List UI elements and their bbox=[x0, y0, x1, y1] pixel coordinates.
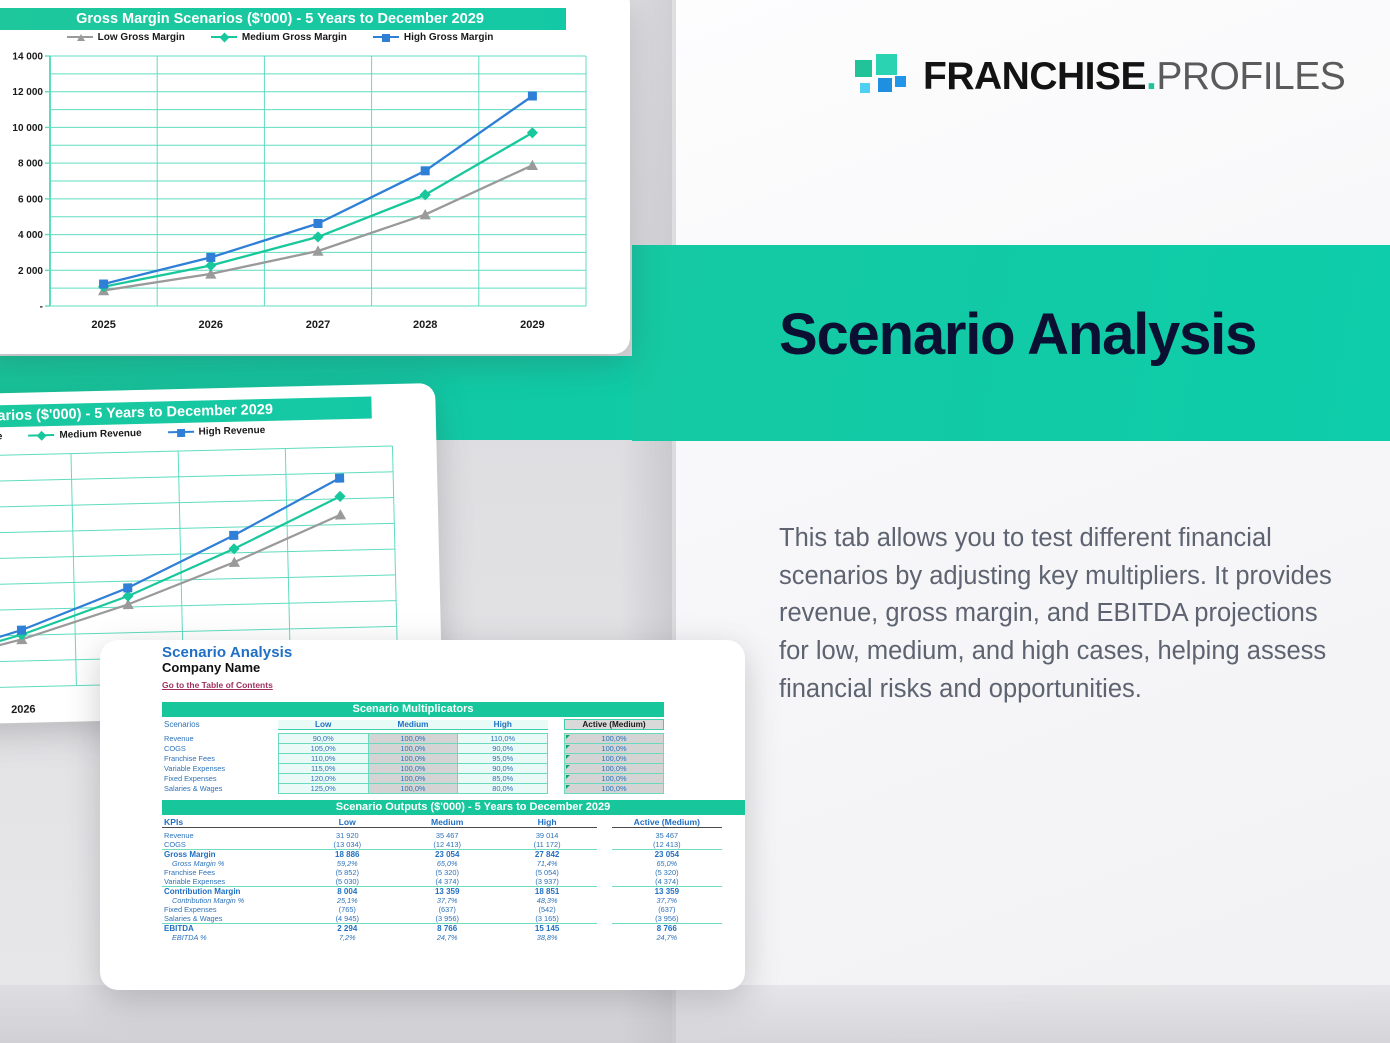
page-headline: Scenario Analysis bbox=[779, 305, 1379, 366]
legend-label: Medium Revenue bbox=[59, 427, 141, 440]
logo-wordmark: FRANCHISE.PROFILES bbox=[923, 57, 1345, 96]
logo-text-bold: FRANCHISE bbox=[923, 55, 1146, 98]
table-row: COGS105,0%100,0%90,0%100,0% bbox=[162, 744, 664, 754]
cell-high: (3 937) bbox=[497, 877, 597, 887]
table-row: Fixed Expenses(765)(637)(542)(637) bbox=[162, 905, 722, 914]
legend-line-blue bbox=[373, 36, 399, 38]
background-bottom-shade bbox=[0, 985, 1390, 1043]
cell-high: 71,4% bbox=[497, 859, 597, 868]
svg-text:-: - bbox=[40, 302, 43, 313]
cell-medium: (3 956) bbox=[397, 914, 497, 924]
cell-high: 38,8% bbox=[497, 933, 597, 942]
col-header-medium: Medium bbox=[368, 720, 458, 730]
gross-margin-chart-title: Gross Margin Scenarios ($'000) - 5 Years… bbox=[0, 8, 566, 30]
col-header-active: Active (Medium) bbox=[564, 720, 663, 730]
svg-text:2 000: 2 000 bbox=[18, 266, 43, 277]
cell-high: 39 014 bbox=[497, 831, 597, 840]
cell-high[interactable]: 90,0% bbox=[458, 764, 548, 774]
cell-active[interactable]: 100,0% bbox=[564, 774, 663, 784]
col-header-low: Low bbox=[278, 720, 368, 730]
cell-medium: 65,0% bbox=[397, 859, 497, 868]
svg-text:2028: 2028 bbox=[413, 319, 437, 331]
cell-active: 8 766 bbox=[612, 924, 722, 934]
franchise-profiles-logo: FRANCHISE.PROFILES bbox=[855, 48, 1355, 104]
cell-active: (5 320) bbox=[612, 868, 722, 877]
legend-item-low-gross-margin: Low Gross Margin bbox=[67, 32, 185, 43]
cell-low[interactable]: 105,0% bbox=[278, 744, 368, 754]
logo-mark-icon bbox=[855, 52, 907, 100]
row-label: Fixed Expenses bbox=[162, 774, 278, 784]
legend-line-green bbox=[211, 36, 237, 38]
col-header-medium: Medium bbox=[397, 817, 497, 828]
cell-active: (4 374) bbox=[612, 877, 722, 887]
svg-text:2027: 2027 bbox=[306, 319, 330, 331]
legend-item-low-revenue: Low Revenue bbox=[0, 431, 3, 444]
gross-margin-svg: 14 00012 00010 0008 0006 0004 0002 000-2… bbox=[0, 50, 592, 340]
cell-medium: 23 054 bbox=[397, 850, 497, 860]
svg-text:8 000: 8 000 bbox=[18, 159, 43, 170]
legend-label: Low Revenue bbox=[0, 431, 3, 444]
gross-margin-plot-area: 14 00012 00010 0008 0006 0004 0002 000-2… bbox=[0, 50, 592, 340]
svg-text:14 000: 14 000 bbox=[12, 52, 43, 63]
row-label: Revenue bbox=[162, 831, 297, 840]
legend-line-gray bbox=[67, 36, 93, 38]
scenario-outputs-band: Scenario Outputs ($'000) - 5 Years to De… bbox=[162, 800, 745, 815]
col-header-active: Active (Medium) bbox=[612, 817, 722, 828]
cell-medium[interactable]: 100,0% bbox=[368, 754, 458, 764]
row-label: Salaries & Wages bbox=[162, 914, 297, 924]
cell-medium[interactable]: 100,0% bbox=[368, 784, 458, 794]
cell-active[interactable]: 100,0% bbox=[564, 754, 663, 764]
row-label: Salaries & Wages bbox=[162, 784, 278, 794]
cell-low: 8 004 bbox=[297, 887, 397, 897]
table-row: Franchise Fees110,0%100,0%95,0%100,0% bbox=[162, 754, 664, 764]
table-row: Gross Margin %59,2%65,0%71,4%65,0% bbox=[162, 859, 722, 868]
col-header-scenarios: Scenarios bbox=[162, 720, 278, 730]
cell-low: 25,1% bbox=[297, 896, 397, 905]
cell-high[interactable]: 85,0% bbox=[458, 774, 548, 784]
cell-medium: 13 359 bbox=[397, 887, 497, 897]
cell-high: 48,3% bbox=[497, 896, 597, 905]
cell-active: 24,7% bbox=[612, 933, 722, 942]
cell-high[interactable]: 80,0% bbox=[458, 784, 548, 794]
triangle-marker-icon bbox=[77, 34, 85, 41]
gross-margin-chart-card: Gross Margin Scenarios ($'000) - 5 Years… bbox=[0, 0, 630, 354]
logo-text-dot: . bbox=[1146, 55, 1156, 98]
cell-active[interactable]: 100,0% bbox=[564, 744, 663, 754]
svg-text:4 000: 4 000 bbox=[18, 230, 43, 241]
cell-active[interactable]: 100,0% bbox=[564, 734, 663, 744]
svg-text:6 000: 6 000 bbox=[18, 194, 43, 205]
cell-high: 27 842 bbox=[497, 850, 597, 860]
cell-high: (3 165) bbox=[497, 914, 597, 924]
table-header-row: ScenariosLowMediumHighActive (Medium) bbox=[162, 720, 664, 730]
cell-low: 59,2% bbox=[297, 859, 397, 868]
row-label: Fixed Expenses bbox=[162, 905, 297, 914]
cell-low: (5 852) bbox=[297, 868, 397, 877]
cell-high[interactable]: 110,0% bbox=[458, 734, 548, 744]
page-description: This tab allows you to test different fi… bbox=[779, 520, 1334, 709]
cell-low: (765) bbox=[297, 905, 397, 914]
cell-medium[interactable]: 100,0% bbox=[368, 744, 458, 754]
row-label: Franchise Fees bbox=[162, 868, 297, 877]
svg-text:2026: 2026 bbox=[11, 704, 36, 717]
gross-margin-legend: Low Gross Margin Medium Gross Margin Hig… bbox=[0, 28, 566, 46]
cell-active[interactable]: 100,0% bbox=[564, 764, 663, 774]
col-header-high: High bbox=[458, 720, 548, 730]
row-label: COGS bbox=[162, 840, 297, 850]
col-header-low: Low bbox=[297, 817, 397, 828]
cell-low[interactable]: 125,0% bbox=[278, 784, 368, 794]
logo-text-light: PROFILES bbox=[1156, 55, 1345, 98]
cell-active: 65,0% bbox=[612, 859, 722, 868]
row-label: Contribution Margin bbox=[162, 887, 297, 897]
cell-medium[interactable]: 100,0% bbox=[368, 764, 458, 774]
table-row: Franchise Fees(5 852)(5 320)(5 054)(5 32… bbox=[162, 868, 722, 877]
cell-low[interactable]: 120,0% bbox=[278, 774, 368, 784]
cell-medium: (4 374) bbox=[397, 877, 497, 887]
cell-low: 18 886 bbox=[297, 850, 397, 860]
cell-medium: 8 766 bbox=[397, 924, 497, 934]
cell-low: 2 294 bbox=[297, 924, 397, 934]
table-header-row: KPIsLowMediumHighActive (Medium) bbox=[162, 817, 722, 828]
cell-high: 18 851 bbox=[497, 887, 597, 897]
col-header-kpis: KPIs bbox=[162, 817, 297, 828]
sheet-title: Scenario Analysis bbox=[162, 644, 745, 661]
cell-active: 23 054 bbox=[612, 850, 722, 860]
svg-text:2025: 2025 bbox=[91, 319, 115, 331]
cell-low: 7,2% bbox=[297, 933, 397, 942]
cell-medium: 24,7% bbox=[397, 933, 497, 942]
legend-item-medium-revenue: Medium Revenue bbox=[28, 427, 141, 441]
cell-medium: (12 413) bbox=[397, 840, 497, 850]
scenario-outputs-table: KPIsLowMediumHighActive (Medium)Revenue3… bbox=[162, 817, 722, 942]
row-label: Variable Expenses bbox=[162, 764, 278, 774]
cell-medium: 37,7% bbox=[397, 896, 497, 905]
table-row: EBITDA %7,2%24,7%38,8%24,7% bbox=[162, 933, 722, 942]
row-label: Contribution Margin % bbox=[162, 896, 297, 905]
col-header-high: High bbox=[497, 817, 597, 828]
square-marker-icon bbox=[177, 429, 185, 437]
row-label: Franchise Fees bbox=[162, 754, 278, 764]
cell-high: (5 054) bbox=[497, 868, 597, 877]
table-row: Revenue31 92035 46739 01435 467 bbox=[162, 831, 722, 840]
row-label: Gross Margin % bbox=[162, 859, 297, 868]
cell-active: (12 413) bbox=[612, 840, 722, 850]
legend-item-high-gross-margin: High Gross Margin bbox=[373, 32, 493, 43]
cell-low[interactable]: 115,0% bbox=[278, 764, 368, 774]
cell-active[interactable]: 100,0% bbox=[564, 784, 663, 794]
diamond-marker-icon bbox=[37, 431, 47, 441]
legend-line-blue bbox=[168, 431, 194, 434]
cell-low: 31 920 bbox=[297, 831, 397, 840]
row-label: Variable Expenses bbox=[162, 877, 297, 887]
legend-label: Low Gross Margin bbox=[98, 32, 185, 43]
cell-active: (3 956) bbox=[612, 914, 722, 924]
square-marker-icon bbox=[382, 34, 390, 42]
table-row: Contribution Margin8 00413 35918 85113 3… bbox=[162, 887, 722, 897]
table-row: Revenue90,0%100,0%110,0%100,0% bbox=[162, 734, 664, 744]
row-label: Revenue bbox=[162, 734, 278, 744]
row-label: EBITDA bbox=[162, 924, 297, 934]
table-row: Salaries & Wages(4 945)(3 956)(3 165)(3 … bbox=[162, 914, 722, 924]
cell-low: (4 945) bbox=[297, 914, 397, 924]
row-label: EBITDA % bbox=[162, 933, 297, 942]
svg-text:2026: 2026 bbox=[199, 319, 223, 331]
row-label: Gross Margin bbox=[162, 850, 297, 860]
cell-high: (542) bbox=[497, 905, 597, 914]
table-row: Contribution Margin %25,1%37,7%48,3%37,7… bbox=[162, 896, 722, 905]
cell-low[interactable]: 90,0% bbox=[278, 734, 368, 744]
table-row: COGS(13 034)(12 413)(11 172)(12 413) bbox=[162, 840, 722, 850]
legend-item-medium-gross-margin: Medium Gross Margin bbox=[211, 32, 347, 43]
legend-line-green bbox=[28, 434, 54, 437]
table-row: Salaries & Wages125,0%100,0%80,0%100,0% bbox=[162, 784, 664, 794]
cell-low[interactable]: 110,0% bbox=[278, 754, 368, 764]
scenario-analysis-sheet-card: Scenario Analysis Company Name Go to the… bbox=[100, 640, 745, 990]
table-row: Gross Margin18 88623 05427 84223 054 bbox=[162, 850, 722, 860]
cell-low: (13 034) bbox=[297, 840, 397, 850]
cell-medium: (637) bbox=[397, 905, 497, 914]
cell-high[interactable]: 90,0% bbox=[458, 744, 548, 754]
legend-label: Medium Gross Margin bbox=[242, 32, 347, 43]
sheet-company-name: Company Name bbox=[162, 660, 745, 675]
svg-text:2029: 2029 bbox=[520, 319, 544, 331]
cell-high[interactable]: 95,0% bbox=[458, 754, 548, 764]
cell-high: (11 172) bbox=[497, 840, 597, 850]
table-of-contents-link[interactable]: Go to the Table of Contents bbox=[162, 680, 273, 690]
svg-text:12 000: 12 000 bbox=[12, 87, 43, 98]
cell-medium: (5 320) bbox=[397, 868, 497, 877]
table-row: Fixed Expenses120,0%100,0%85,0%100,0% bbox=[162, 774, 664, 784]
cell-medium[interactable]: 100,0% bbox=[368, 774, 458, 784]
cell-active: 13 359 bbox=[612, 887, 722, 897]
table-row: Variable Expenses(5 030)(4 374)(3 937)(4… bbox=[162, 877, 722, 887]
svg-text:10 000: 10 000 bbox=[12, 123, 43, 134]
legend-label: High Gross Margin bbox=[404, 32, 493, 43]
legend-label: High Revenue bbox=[198, 425, 265, 438]
cell-active: 35 467 bbox=[612, 831, 722, 840]
scenario-multiplicators-band: Scenario Multiplicators bbox=[162, 702, 664, 717]
cell-medium: 35 467 bbox=[397, 831, 497, 840]
diamond-marker-icon bbox=[219, 33, 229, 43]
cell-medium[interactable]: 100,0% bbox=[368, 734, 458, 744]
cell-high: 15 145 bbox=[497, 924, 597, 934]
cell-active: 37,7% bbox=[612, 896, 722, 905]
cell-active: (637) bbox=[612, 905, 722, 914]
legend-item-high-revenue: High Revenue bbox=[167, 425, 265, 438]
row-label: COGS bbox=[162, 744, 278, 754]
table-row: EBITDA2 2948 76615 1458 766 bbox=[162, 924, 722, 934]
scenario-multiplicators-table: ScenariosLowMediumHighActive (Medium)Rev… bbox=[162, 719, 664, 794]
cell-low: (5 030) bbox=[297, 877, 397, 887]
table-row: Variable Expenses115,0%100,0%90,0%100,0% bbox=[162, 764, 664, 774]
